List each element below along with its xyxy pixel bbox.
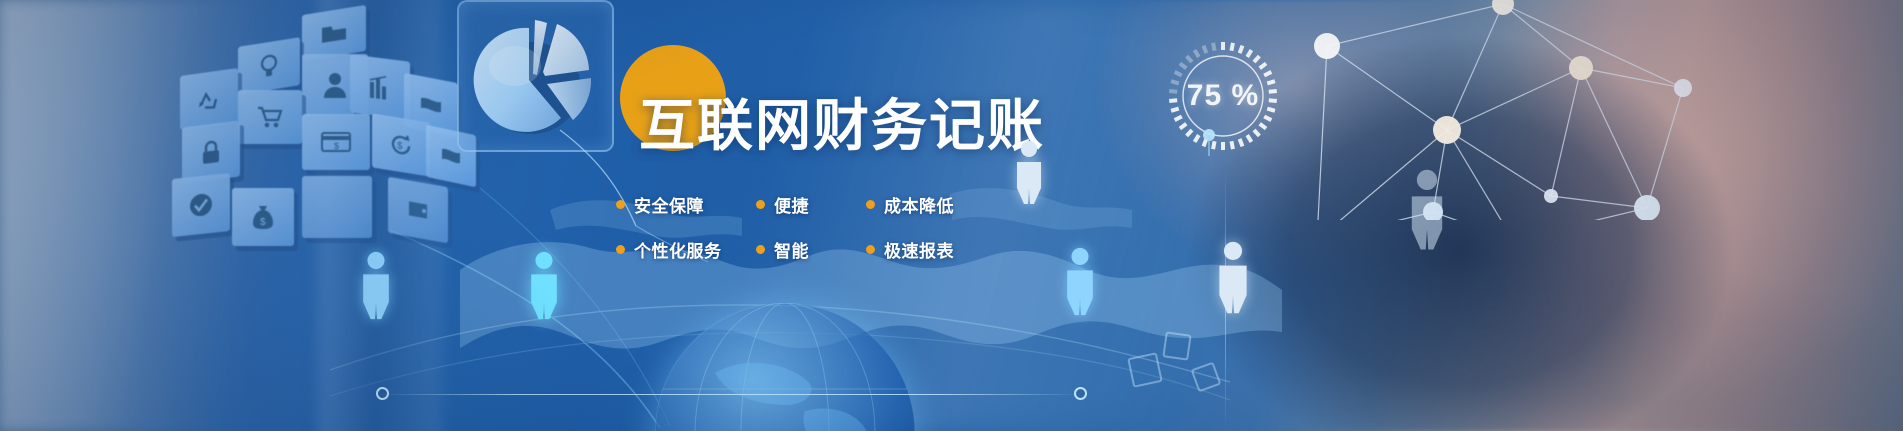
bar-chart-icon — [350, 54, 410, 119]
feature-item[interactable]: 便捷 — [756, 192, 866, 217]
feature-label: 安全保障 — [634, 192, 704, 217]
tile — [1191, 362, 1222, 393]
feature-label: 个性化服务 — [634, 237, 722, 262]
svg-text:$: $ — [397, 140, 403, 152]
tile — [1127, 352, 1163, 388]
feature-item[interactable]: 智能 — [756, 237, 866, 262]
bullet-dot-icon — [866, 200, 875, 209]
tile — [1162, 331, 1191, 360]
svg-text:$: $ — [260, 217, 266, 228]
bullet-dot-icon — [616, 200, 625, 209]
bullet-dot-icon — [866, 245, 875, 254]
cube-blank — [302, 176, 372, 238]
bullet-dot-icon — [756, 200, 765, 209]
person-pictogram-icon — [1014, 140, 1044, 209]
gauge-value-label: 75 % — [1163, 36, 1283, 156]
feature-item[interactable]: 安全保障 — [616, 192, 756, 217]
person-pictogram-icon — [360, 250, 392, 325]
feature-list: 安全保障 便捷 成本降低 个性化服务 智能 极速报表 — [616, 182, 986, 272]
wallet-icon — [388, 177, 448, 244]
person-pictogram-icon — [1408, 168, 1446, 255]
feature-label: 智能 — [774, 237, 809, 262]
network-node-graph — [1275, 0, 1695, 220]
svg-text:$: $ — [334, 141, 339, 151]
feature-item[interactable]: 成本降低 — [866, 192, 986, 217]
progress-gauge: 75 % — [1163, 36, 1283, 156]
refresh-dollar-icon: $ — [372, 113, 430, 176]
folder-icon — [302, 5, 366, 61]
check-circle-icon — [172, 173, 230, 237]
feature-item[interactable]: 个性化服务 — [616, 237, 756, 262]
rule-node-right — [1074, 387, 1087, 400]
icon-cube-stack: $ $ $ — [176, 0, 476, 250]
feature-label: 便捷 — [774, 192, 809, 217]
shopping-cart-icon — [238, 90, 302, 144]
bullet-dot-icon — [616, 245, 625, 254]
bullet-dot-icon — [756, 245, 765, 254]
feature-label: 成本降低 — [884, 192, 954, 217]
feature-item[interactable]: 极速报表 — [866, 237, 986, 262]
person-pictogram-icon — [1064, 246, 1096, 321]
globe-icon — [655, 303, 915, 431]
credit-card-icon: $ — [302, 114, 370, 170]
rule-node-left — [376, 387, 389, 400]
person-pictogram-icon — [528, 250, 560, 325]
person-pictogram-icon — [1216, 240, 1250, 319]
bottom-rule — [380, 394, 1080, 395]
marketing-banner: $ $ $ — [0, 0, 1903, 431]
feature-label: 极速报表 — [884, 237, 954, 262]
lightbulb-icon — [238, 37, 300, 95]
money-bag-icon: $ — [232, 188, 294, 246]
decorative-tiles — [1120, 321, 1260, 411]
